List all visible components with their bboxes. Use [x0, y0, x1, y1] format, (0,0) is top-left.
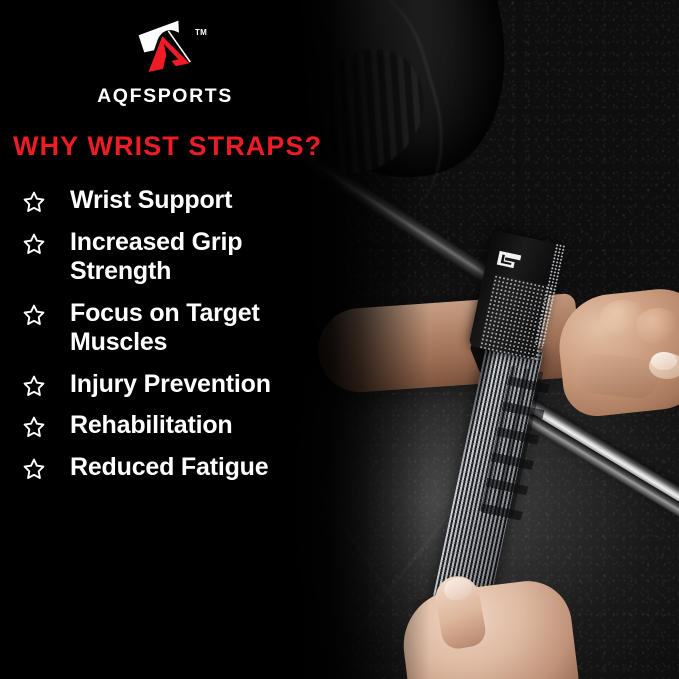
- list-item: Wrist Support: [22, 186, 422, 216]
- list-item: Focus on Target Muscles: [22, 299, 422, 358]
- trademark-symbol: TM: [195, 28, 207, 37]
- fingernail: [651, 352, 677, 370]
- benefit-label: Increased Grip Strength: [70, 228, 330, 287]
- knuckle-highlight: [636, 308, 679, 344]
- page-title: WHY WRIST STRAPS?: [13, 131, 322, 162]
- benefit-label: Reduced Fatigue: [70, 453, 268, 483]
- brand-lockup: TM AQFSPORTS: [0, 18, 330, 108]
- list-item: Reduced Fatigue: [22, 453, 422, 483]
- list-item: Injury Prevention: [22, 370, 422, 400]
- benefit-label: Wrist Support: [70, 186, 232, 216]
- brand-name: AQFSPORTS: [97, 85, 233, 108]
- product-infographic: TM AQFSPORTS WHY WRIST STRAPS? Wrist Sup…: [0, 0, 679, 679]
- star-outline-icon: [22, 190, 46, 214]
- benefit-label: Injury Prevention: [70, 370, 271, 400]
- star-outline-icon: [22, 374, 46, 398]
- star-outline-icon: [22, 415, 46, 439]
- benefit-label: Focus on Target Muscles: [70, 299, 330, 358]
- list-item: Increased Grip Strength: [22, 228, 422, 287]
- content-column: TM AQFSPORTS WHY WRIST STRAPS? Wrist Sup…: [0, 0, 430, 679]
- benefit-label: Rehabilitation: [70, 411, 232, 441]
- brand-logo: TM: [132, 18, 198, 80]
- benefits-list: Wrist Support Increased Grip Strength Fo…: [22, 186, 422, 494]
- list-item: Rehabilitation: [22, 411, 422, 441]
- star-outline-icon: [22, 303, 46, 327]
- star-outline-icon: [22, 232, 46, 256]
- star-outline-icon: [22, 457, 46, 481]
